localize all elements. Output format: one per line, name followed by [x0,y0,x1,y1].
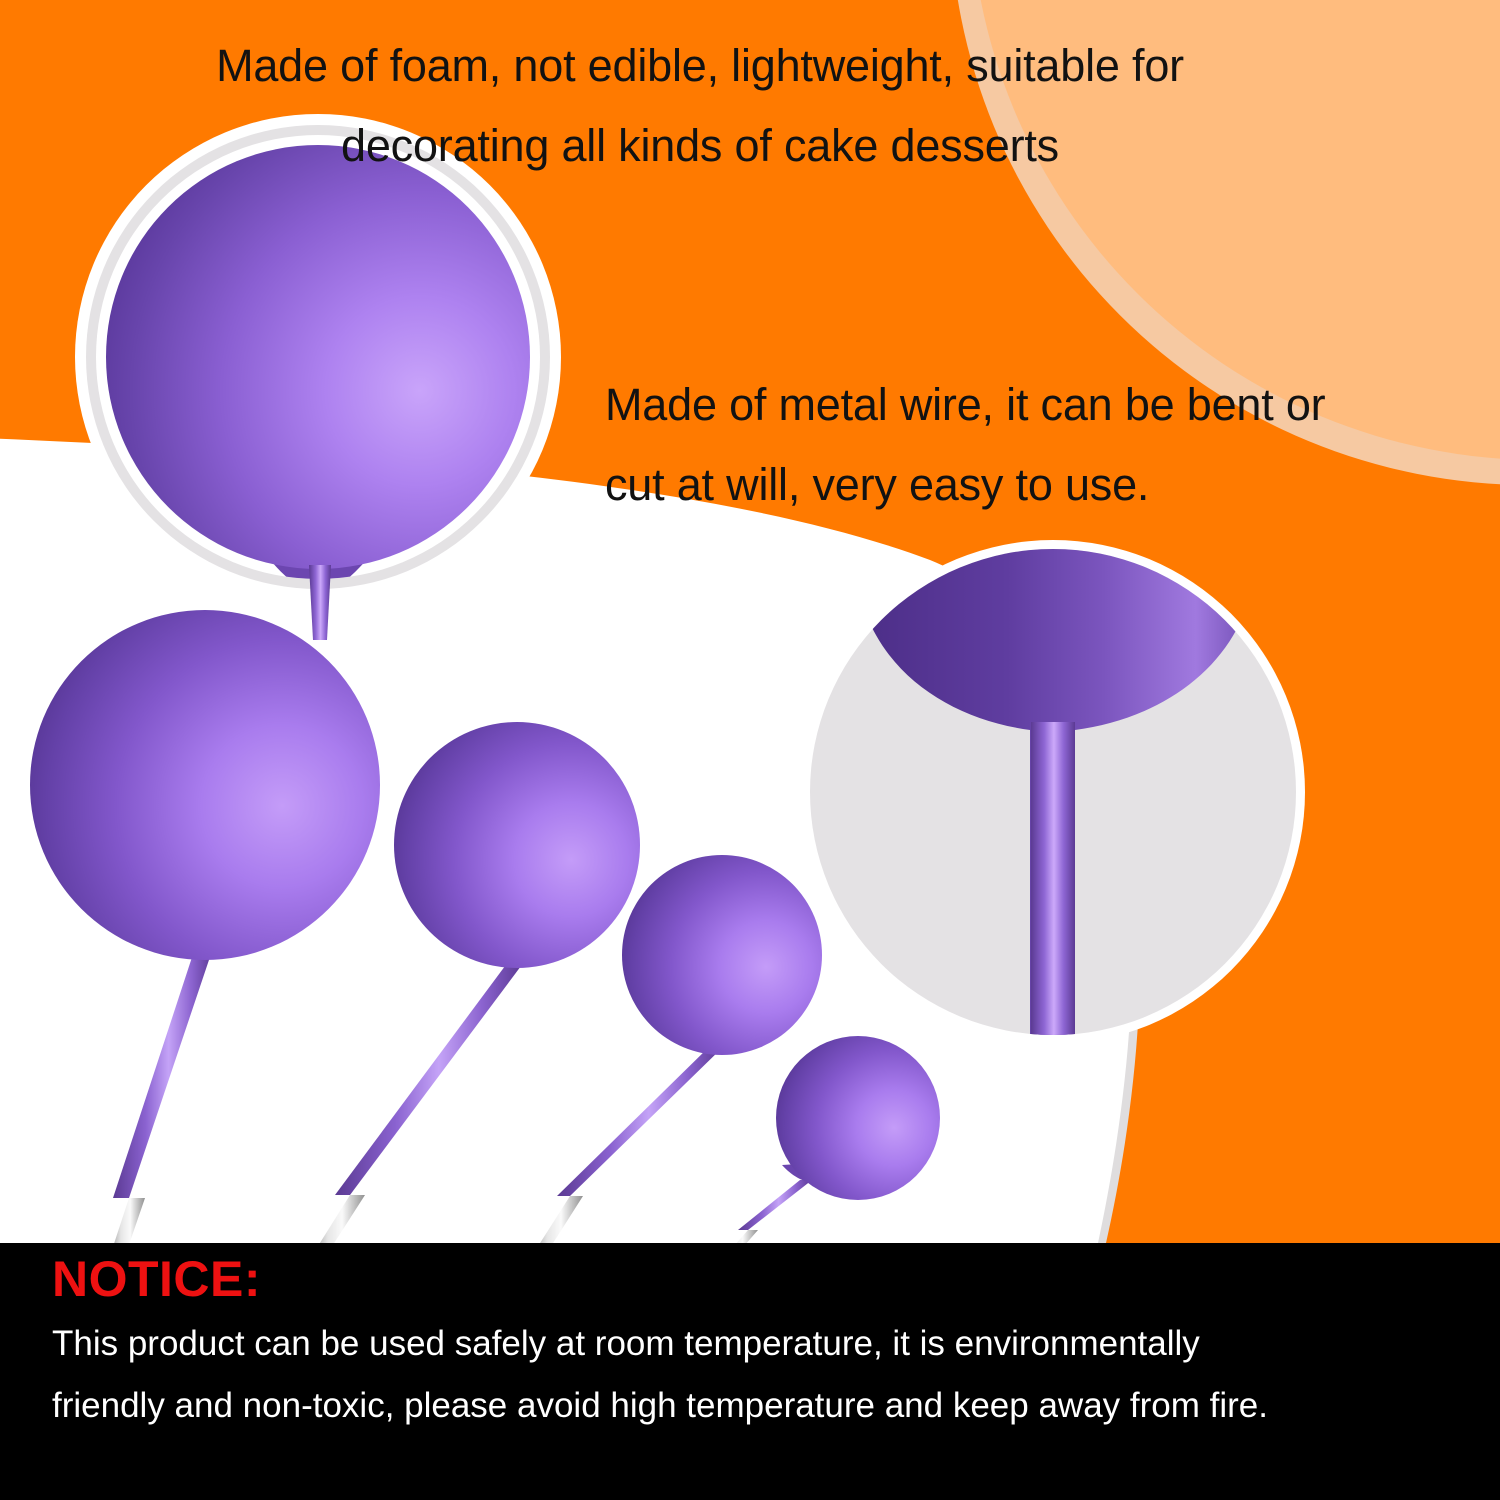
product-infographic: Made of foam, not edible, lightweight, s… [0,0,1500,1500]
notice-title: NOTICE: [52,1250,261,1308]
notice-body-text: This product can be used safely at room … [52,1313,1452,1437]
